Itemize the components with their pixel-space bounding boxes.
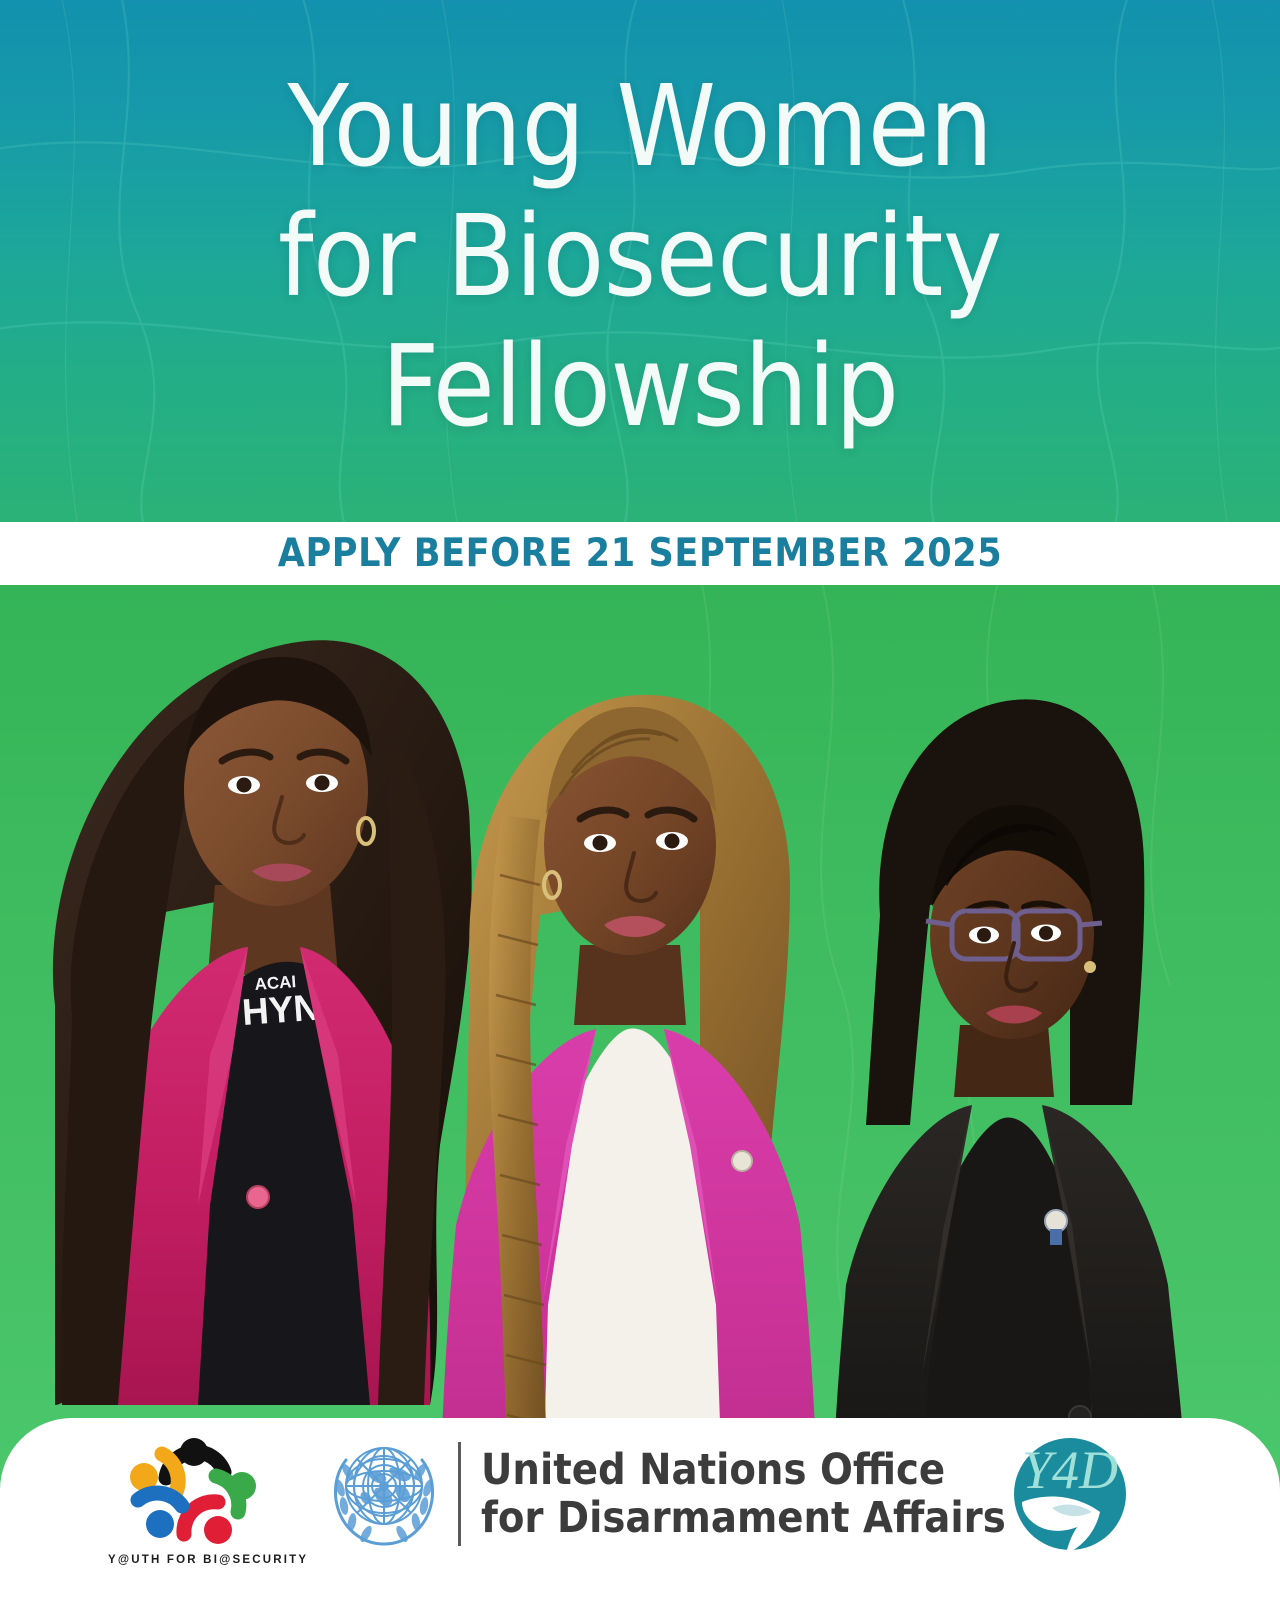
apply-deadline-text: APPLY BEFORE 21 SEPTEMBER 2025 [278, 531, 1003, 576]
woman-left: ACAI HYNO [53, 640, 472, 1405]
footer-logo-bar: Y@UTH FOR BI@SECURITY [0, 1418, 1280, 1600]
poster-header: Young Women for Biosecurity Fellowship [0, 0, 1280, 522]
y4d-logo: Y4D [1004, 1430, 1136, 1562]
unoda-divider [458, 1442, 461, 1546]
youth-for-biosecurity-tagline: Y@UTH FOR BI@SECURITY [108, 1554, 278, 1566]
unoda-name-line-1: United Nations Office [481, 1446, 1006, 1494]
unoda-logo: United Nations Office for Disarmament Af… [318, 1428, 1006, 1560]
title-line-3: Fellowship [381, 323, 898, 453]
unoda-name: United Nations Office for Disarmament Af… [481, 1446, 1006, 1542]
youth-for-biosecurity-icon [108, 1434, 278, 1552]
apply-deadline-banner: APPLY BEFORE 21 SEPTEMBER 2025 [0, 522, 1280, 585]
poster-root: Young Women for Biosecurity Fellowship A… [0, 0, 1280, 1600]
poster-title: Young Women for Biosecurity Fellowship [0, 0, 1280, 522]
y4d-letters: Y4D [1022, 1440, 1118, 1500]
un-emblem-icon [318, 1428, 450, 1560]
youth-for-biosecurity-logo: Y@UTH FOR BI@SECURITY [108, 1434, 278, 1582]
title-line-2: for Biosecurity [278, 193, 1002, 323]
title-line-1: Young Women [287, 63, 992, 193]
unoda-name-line-2: for Disarmament Affairs [481, 1494, 1006, 1542]
